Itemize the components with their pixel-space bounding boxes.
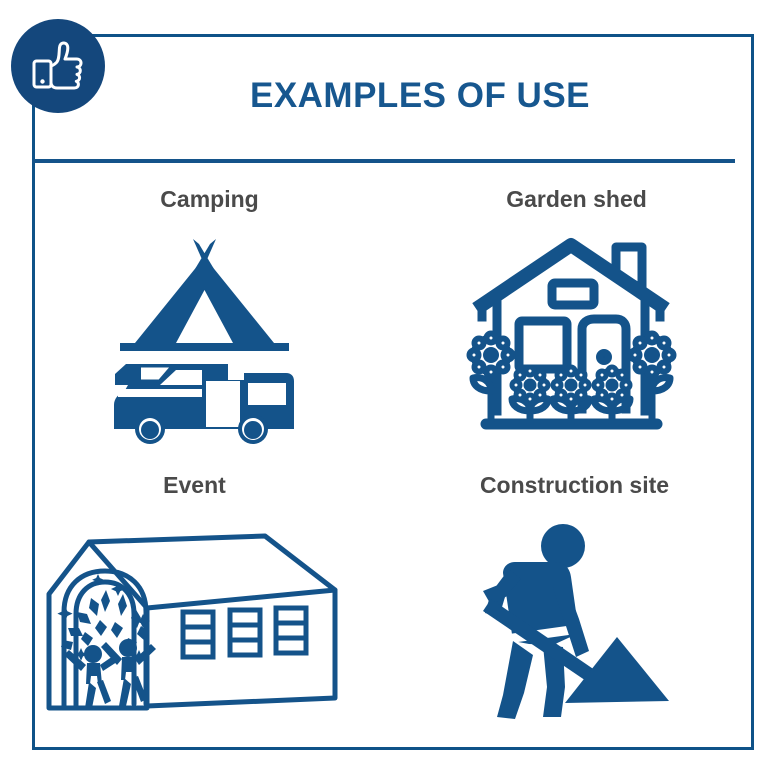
party-marquee-tent-icon bbox=[29, 497, 400, 744]
title-divider bbox=[32, 159, 735, 163]
thumbs-up-icon bbox=[26, 34, 90, 98]
example-label: Event bbox=[163, 474, 226, 497]
page-title: EXAMPLES OF USE bbox=[120, 78, 720, 113]
examples-of-use-infographic: EXAMPLES OF USE Camping bbox=[0, 0, 768, 768]
example-camping: Camping bbox=[36, 184, 393, 470]
worker-with-shovel-icon bbox=[388, 497, 755, 744]
example-label: Camping bbox=[160, 188, 258, 211]
tent-and-camper-van-icon bbox=[27, 211, 402, 470]
example-event: Event bbox=[36, 470, 393, 744]
example-garden-shed: Garden shed bbox=[393, 184, 750, 470]
house-with-flowers-icon bbox=[393, 211, 750, 470]
examples-grid: Camping bbox=[36, 184, 750, 744]
example-label: Garden shed bbox=[506, 188, 647, 211]
thumbs-up-badge bbox=[11, 19, 105, 113]
example-construction-site: Construction site bbox=[393, 470, 750, 744]
example-label: Construction site bbox=[480, 474, 669, 497]
